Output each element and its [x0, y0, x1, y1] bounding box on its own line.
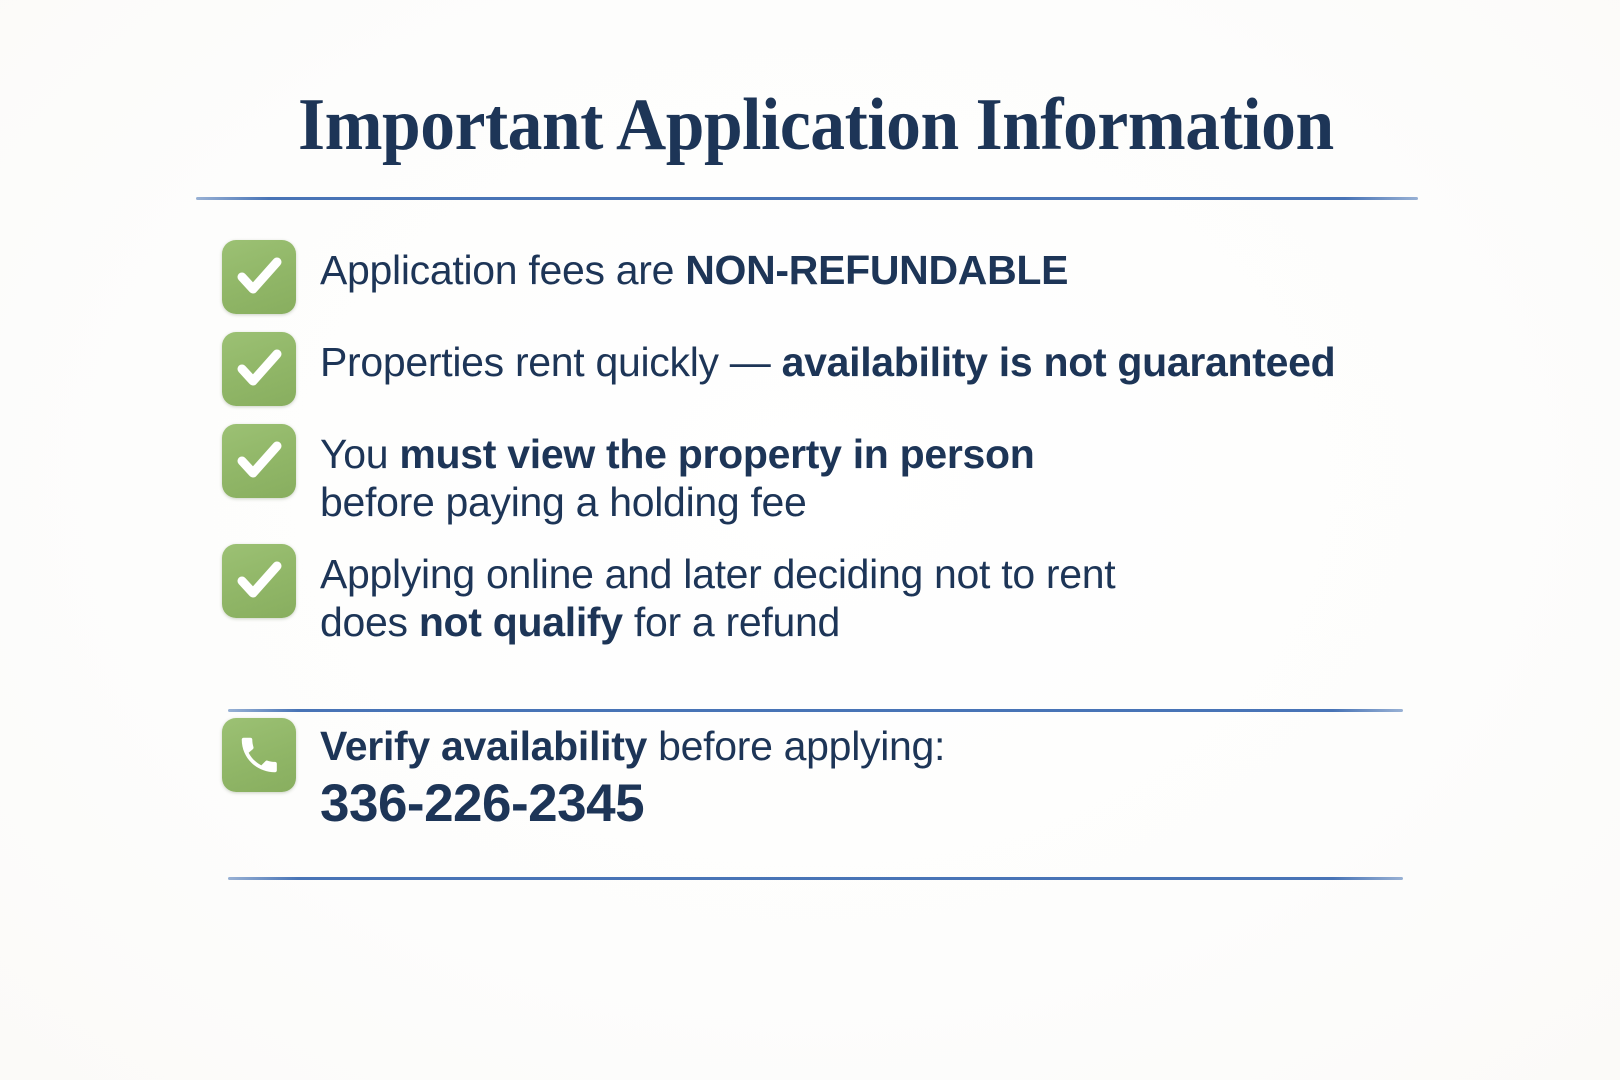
contact-block: Verify availability before applying: 336… [222, 718, 1422, 835]
list-item-text-prefix: Application fees are [320, 247, 685, 293]
list-item-text: Application fees are NON-REFUNDABLE [320, 240, 1068, 294]
list-item-text-emphasis: must view the property in person [399, 431, 1034, 477]
divider-bottom [228, 877, 1403, 880]
list-item-text: Properties rent quickly — availability i… [320, 332, 1335, 386]
list-item-text-prefix: Properties rent quickly — [320, 339, 782, 385]
divider-top [196, 197, 1418, 200]
list-item-text-prefix: Applying online and later deciding not t… [320, 551, 1115, 597]
list-item-text-line2-prefix: does [320, 599, 419, 645]
list-item: You must view the property in person bef… [222, 424, 1422, 526]
list-item: Applying online and later deciding not t… [222, 544, 1422, 646]
list-item-text-line2-prefix: before paying a holding fee [320, 479, 807, 525]
list-item: Properties rent quickly — availability i… [222, 332, 1422, 406]
check-mark-icon [222, 240, 296, 314]
page-title: Important Application Information [49, 86, 1577, 164]
list-item-text: You must view the property in person bef… [320, 424, 1035, 526]
phone-number[interactable]: 336-226-2345 [320, 773, 945, 835]
list-item: Application fees are NON-REFUNDABLE [222, 240, 1422, 314]
list-item-text-emphasis: NON-REFUNDABLE [685, 247, 1068, 293]
list-item-text-line2-suffix: for a refund [623, 599, 840, 645]
contact-text: Verify availability before applying: 336… [320, 718, 945, 835]
check-mark-icon [222, 544, 296, 618]
contact-prompt: Verify availability before applying: [320, 721, 945, 771]
contact-prompt-rest: before applying: [647, 723, 945, 769]
application-information-card: Important Application Information Applic… [0, 0, 1620, 1080]
phone-icon [222, 718, 296, 792]
list-item-text-prefix: You [320, 431, 399, 477]
check-mark-icon [222, 332, 296, 406]
list-item-text-emphasis: availability is not guaranteed [782, 339, 1336, 385]
list-item-text-line2-emphasis: not qualify [419, 599, 623, 645]
list-item-text: Applying online and later deciding not t… [320, 544, 1115, 646]
contact-prompt-emphasis: Verify availability [320, 723, 647, 769]
divider-middle [228, 709, 1403, 712]
check-mark-icon [222, 424, 296, 498]
checklist: Application fees are NON-REFUNDABLE Prop… [222, 240, 1422, 646]
